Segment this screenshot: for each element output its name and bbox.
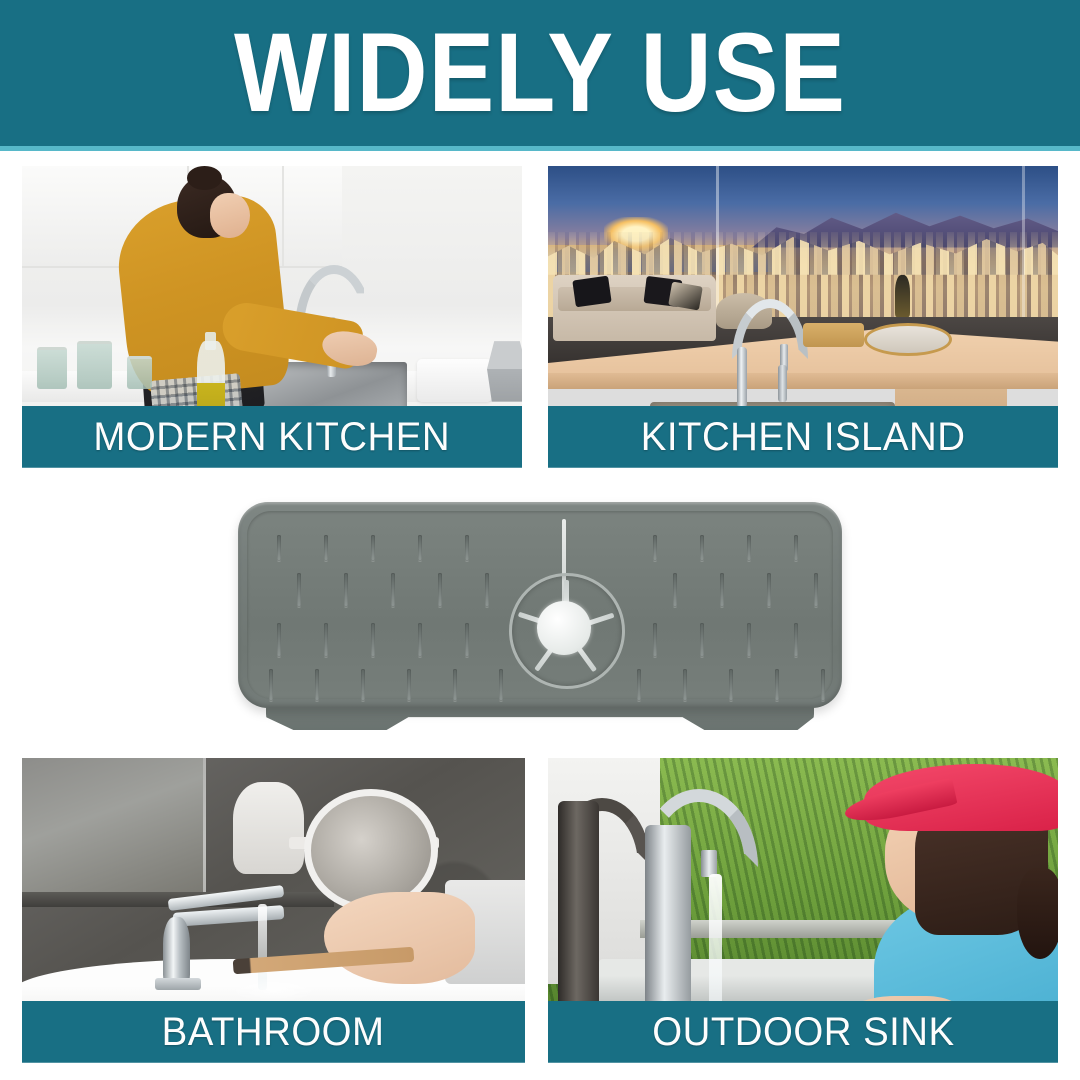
caption-bar-outdoor-sink: OUTDOOR SINK <box>548 1001 1058 1063</box>
drain-slit <box>794 535 798 561</box>
cabinet-seam <box>282 166 284 266</box>
drain-slit <box>767 573 771 607</box>
glass-jar <box>37 347 67 389</box>
moka-pot <box>487 341 522 401</box>
wine-bottle <box>895 275 910 317</box>
drain-slit <box>269 669 273 701</box>
caption-label: OUTDOOR SINK <box>652 1010 954 1055</box>
sofa-pillow <box>669 281 703 310</box>
drain-slit <box>324 623 328 657</box>
drain-slit <box>315 669 319 701</box>
spice-jar <box>127 356 152 389</box>
caption-bar-bathroom: BATHROOM <box>22 1001 525 1063</box>
drain-slit <box>729 669 733 701</box>
faucet-neck <box>737 347 747 407</box>
caption-bar-kitchen-island: KITCHEN ISLAND <box>548 406 1058 468</box>
drain-slit <box>277 623 281 657</box>
person-hand <box>324 892 475 984</box>
soap-dispenser <box>778 365 787 401</box>
product-infographic: WIDELY USE <box>0 0 1080 1080</box>
panel-bathroom[interactable]: BATHROOM <box>22 758 525 1063</box>
drain-slit <box>821 669 825 701</box>
wall-mirror <box>22 758 206 904</box>
drain-slit <box>344 573 348 607</box>
panel-modern-kitchen[interactable]: MODERN KITCHEN <box>22 166 522 468</box>
drain-slit <box>485 573 489 607</box>
drain-slit <box>465 535 469 561</box>
caption-label: BATHROOM <box>162 1010 385 1055</box>
mat-surface <box>247 511 833 699</box>
drain-slit <box>391 573 395 607</box>
caption-label: MODERN KITCHEN <box>94 415 451 460</box>
drain-slit <box>499 669 503 701</box>
glass-jar <box>77 341 112 389</box>
page-title: WIDELY USE <box>234 17 846 129</box>
drain-slit <box>277 535 281 561</box>
faucet-hole-center <box>537 601 591 655</box>
product-silicone-faucet-mat[interactable] <box>238 500 842 732</box>
toaster <box>417 359 492 401</box>
drain-slit <box>775 669 779 701</box>
drain-slit <box>653 623 657 657</box>
header-banner: WIDELY USE <box>0 0 1080 146</box>
rolled-towel <box>233 782 303 874</box>
caption-bar-modern-kitchen: MODERN KITCHEN <box>22 406 522 468</box>
drain-slit <box>700 535 704 561</box>
water-splash <box>228 978 319 1002</box>
child-braid <box>1017 868 1058 960</box>
panel-kitchen-island[interactable]: KITCHEN ISLAND <box>548 166 1058 468</box>
drain-slit <box>465 623 469 657</box>
person-hair-bun <box>187 166 222 190</box>
drain-slit <box>700 623 704 657</box>
drain-slit <box>794 623 798 657</box>
drain-slit <box>653 535 657 561</box>
drain-slit <box>371 535 375 561</box>
caption-label: KITCHEN ISLAND <box>641 415 966 460</box>
faucet-body <box>163 917 191 984</box>
window-mullion <box>1022 166 1025 335</box>
person-face <box>210 193 250 238</box>
drain-slit <box>747 535 751 561</box>
drain-slit <box>683 669 687 701</box>
faucet-neck <box>645 825 691 1014</box>
drain-slit <box>407 669 411 701</box>
round-tray <box>864 323 952 356</box>
drain-slit <box>747 623 751 657</box>
drain-slit <box>673 573 677 607</box>
header-accent-line <box>0 146 1080 151</box>
gold-tray <box>803 323 864 347</box>
mat-body <box>238 502 842 708</box>
dark-pipe <box>558 801 599 1015</box>
drain-slit <box>438 573 442 607</box>
drain-slit <box>814 573 818 607</box>
drain-slit <box>418 535 422 561</box>
counter-edge <box>548 373 1058 390</box>
faucet-base <box>155 978 200 990</box>
faucet-spout <box>701 850 717 877</box>
drain-slit <box>371 623 375 657</box>
sofa-pillow <box>572 275 611 307</box>
drain-slit <box>324 535 328 561</box>
drain-slit <box>637 669 641 701</box>
drain-slit <box>720 573 724 607</box>
drain-slit <box>453 669 457 701</box>
drain-slit <box>297 573 301 607</box>
drain-slit <box>361 669 365 701</box>
panel-outdoor-sink[interactable]: OUTDOOR SINK <box>548 758 1058 1063</box>
drain-slit <box>418 623 422 657</box>
